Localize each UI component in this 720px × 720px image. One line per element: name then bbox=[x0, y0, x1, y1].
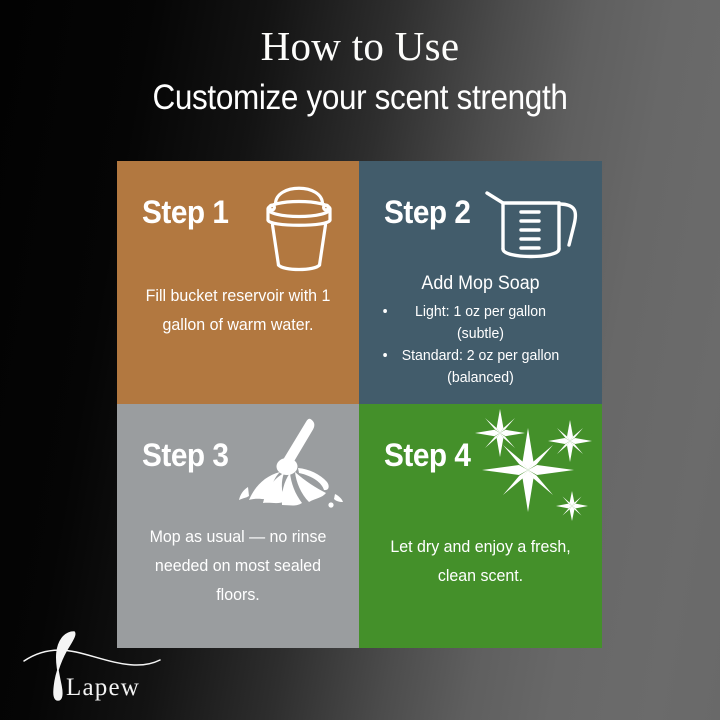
poster-canvas: How to Use Customize your scent strength… bbox=[0, 0, 720, 720]
step-4-label: Step 4 bbox=[384, 437, 471, 474]
step-2-soap-block: Add Mop Soap Light: 1 oz per gallon (sub… bbox=[367, 273, 594, 389]
step-4-body: Let dry and enjoy a fresh, clean scent. bbox=[379, 532, 581, 590]
list-item: Light: 1 oz per gallon (subtle) bbox=[374, 301, 587, 345]
step-2-label: Step 2 bbox=[384, 194, 471, 231]
sparkles-icon bbox=[471, 408, 599, 531]
step-panel-1[interactable]: Step 1 bbox=[117, 161, 359, 404]
step-2-bullet-list: Light: 1 oz per gallon (subtle) Standard… bbox=[367, 301, 594, 389]
step-3-body: Mop as usual — no rinse needed on most s… bbox=[137, 522, 338, 610]
step-2-bullet-1: Light: 1 oz per gallon (subtle) bbox=[415, 303, 546, 342]
bucket-icon bbox=[247, 175, 351, 284]
step-1-label: Step 1 bbox=[142, 194, 229, 231]
step-panel-3[interactable]: Step 3 bbox=[117, 404, 359, 648]
list-item: Standard: 2 oz per gallon (balanced) bbox=[374, 345, 587, 389]
mop-icon bbox=[235, 406, 353, 521]
step-2-bullet-2: Standard: 2 oz per gallon (balanced) bbox=[402, 347, 560, 386]
step-panel-4[interactable]: Step 4 bbox=[359, 404, 602, 648]
page-title: How to Use bbox=[0, 24, 720, 70]
bullet-dot-icon bbox=[383, 353, 387, 357]
step-panel-2[interactable]: Step 2 bbox=[359, 161, 602, 404]
page-subtitle: Customize your scent strength bbox=[36, 79, 684, 118]
measuring-cup-icon bbox=[481, 173, 593, 282]
steps-grid: Step 1 bbox=[117, 161, 602, 648]
step-3-label: Step 3 bbox=[142, 437, 229, 474]
step-1-body: Fill bucket reservoir with 1 gallon of w… bbox=[137, 281, 338, 339]
step-2-heading: Add Mop Soap bbox=[374, 273, 587, 295]
brand-name: Lapew bbox=[66, 674, 140, 702]
title-block: How to Use Customize your scent strength bbox=[0, 24, 720, 117]
bullet-dot-icon bbox=[383, 309, 387, 313]
